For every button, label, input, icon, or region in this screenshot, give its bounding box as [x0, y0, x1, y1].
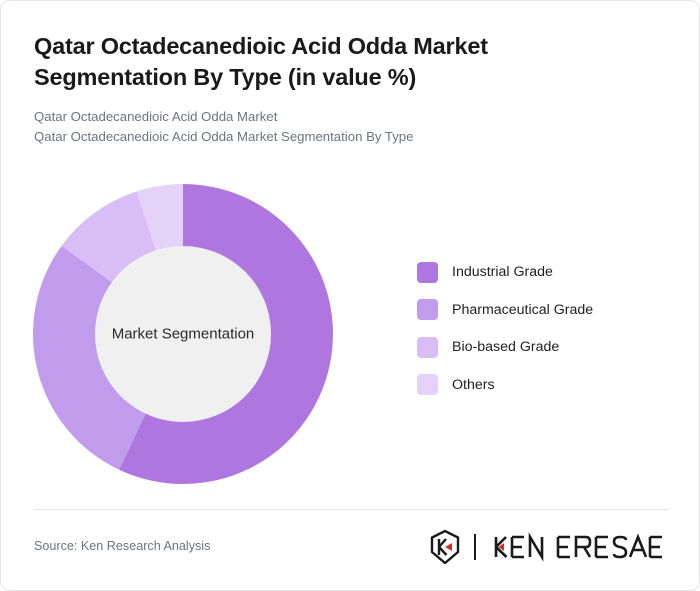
donut-svg: Market Segmentation	[33, 184, 333, 484]
legend-label: Pharmaceutical Grade	[452, 302, 593, 318]
legend-swatch-icon	[417, 337, 438, 358]
donut-chart: Market Segmentation	[33, 184, 333, 484]
legend-label: Industrial Grade	[452, 264, 553, 280]
chart-legend: Industrial GradePharmaceutical GradeBio-…	[417, 261, 593, 396]
chart-footer: Source: Ken Research Analysis	[34, 528, 668, 568]
ken-research-wordmark	[492, 532, 668, 562]
source-label: Source: Ken Research Analysis	[34, 539, 210, 553]
legend-item[interactable]: Others	[417, 374, 593, 396]
legend-swatch-icon	[417, 299, 438, 320]
legend-item[interactable]: Pharmaceutical Grade	[417, 299, 593, 321]
legend-item[interactable]: Bio-based Grade	[417, 336, 593, 358]
ken-shield-logo-icon	[430, 530, 460, 564]
ken-research-logo	[430, 528, 668, 566]
subtitle-block: Qatar Octadecanedioic Acid Odda Market Q…	[34, 107, 594, 148]
subtitle-line-2: Qatar Octadecanedioic Acid Odda Market S…	[34, 127, 594, 147]
legend-swatch-icon	[417, 374, 438, 395]
legend-swatch-icon	[417, 262, 438, 283]
chart-card: Qatar Octadecanedioic Acid Odda Market S…	[0, 0, 700, 591]
logo-divider-bar	[467, 532, 485, 562]
donut-center-label: Market Segmentation	[112, 326, 255, 343]
page-title: Qatar Octadecanedioic Acid Odda Market S…	[34, 31, 594, 93]
footer-divider	[34, 509, 668, 510]
legend-label: Others	[452, 377, 495, 393]
plot-area: Market Segmentation Industrial GradePhar…	[1, 161, 700, 511]
chart-header: Qatar Octadecanedioic Acid Odda Market S…	[34, 31, 594, 148]
legend-label: Bio-based Grade	[452, 339, 559, 355]
legend-item[interactable]: Industrial Grade	[417, 261, 593, 283]
subtitle-line-1: Qatar Octadecanedioic Acid Odda Market	[34, 107, 594, 127]
